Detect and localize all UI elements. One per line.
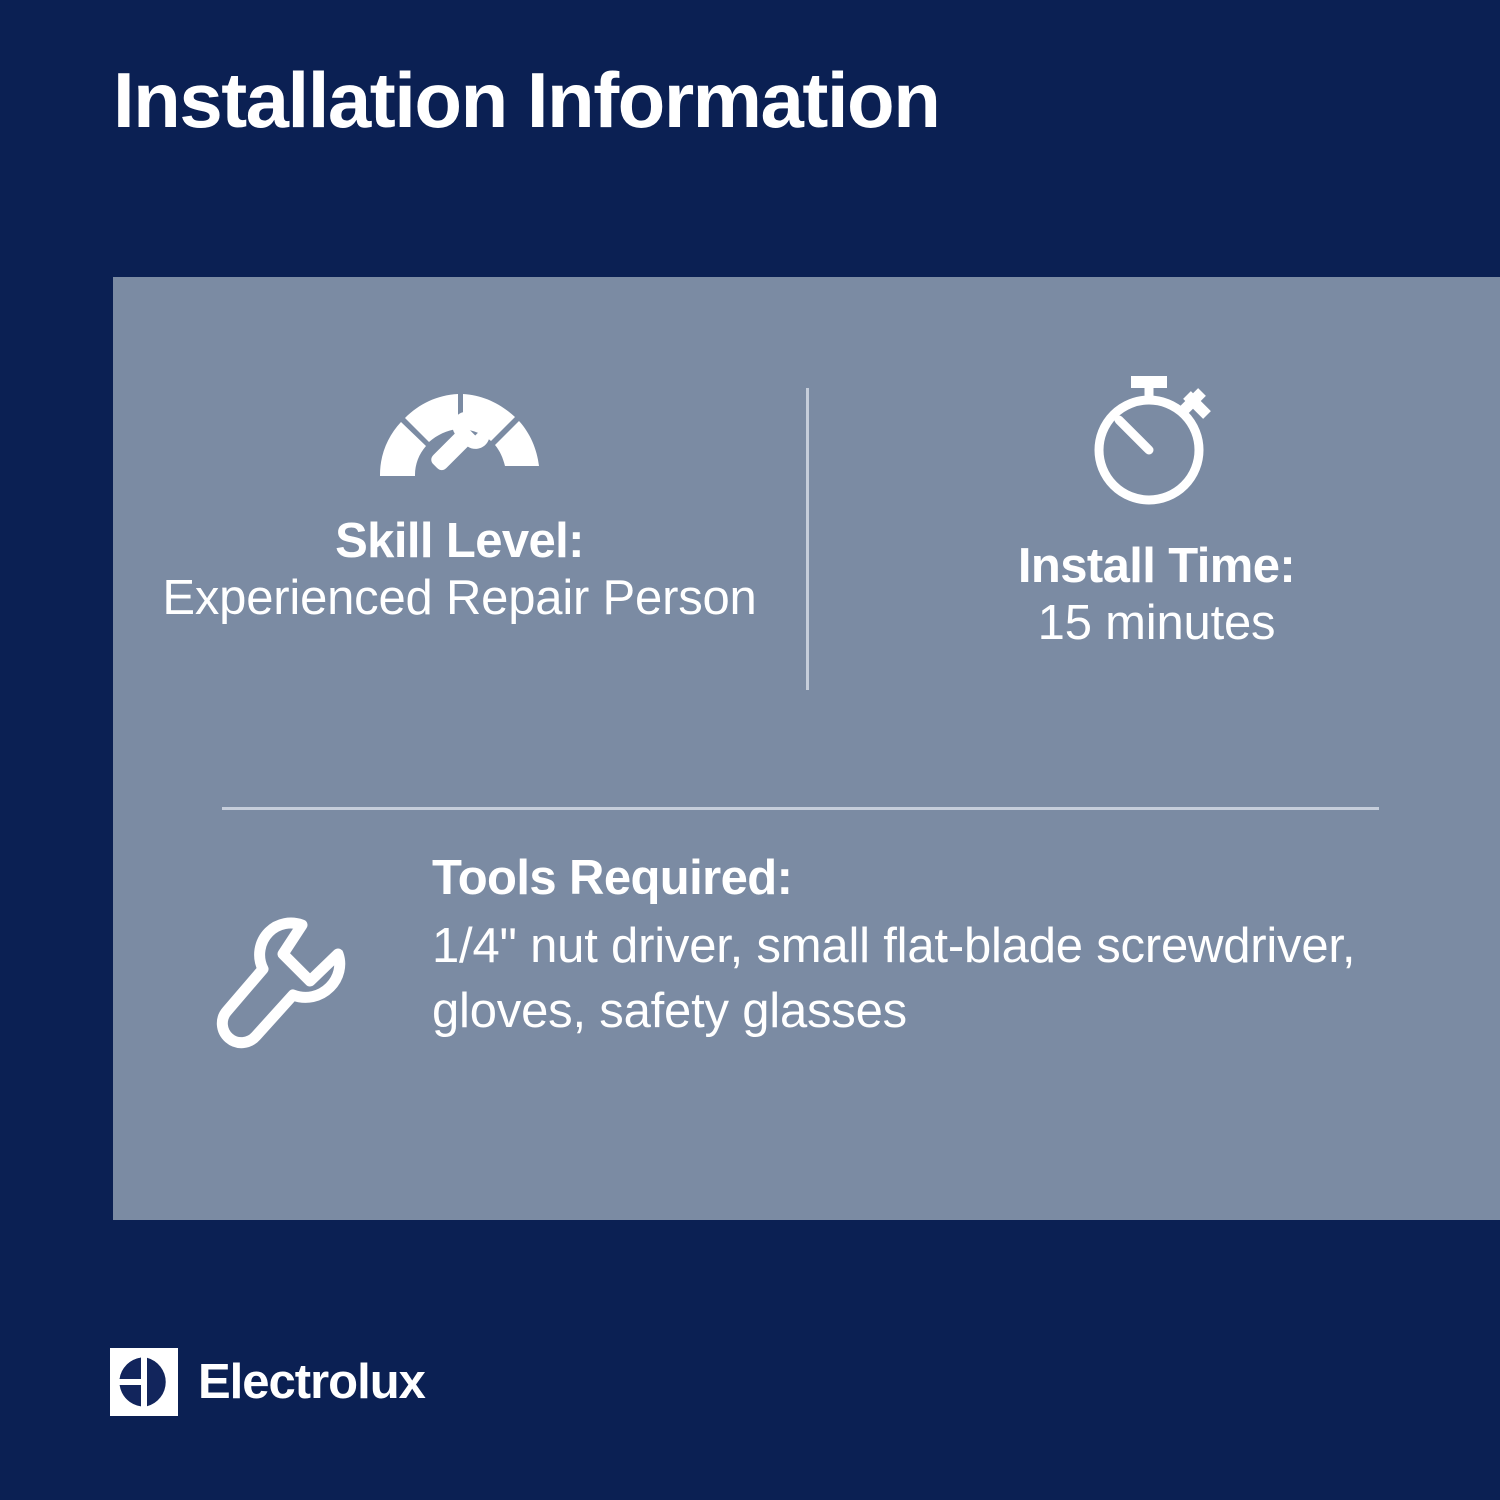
tools-required-value: 1/4" nut driver, small flat-blade screwd… — [432, 914, 1407, 1044]
brand-wordmark: Electrolux — [198, 1358, 425, 1407]
horizontal-divider — [222, 807, 1379, 810]
skill-level-block: Skill Level: Experienced Repair Person — [113, 387, 806, 628]
stopwatch-icon — [813, 362, 1500, 517]
card-top-row: Skill Level: Experienced Repair Person — [113, 277, 1500, 807]
vertical-divider — [806, 388, 809, 690]
electrolux-logo-mark — [110, 1348, 178, 1416]
install-time-block: Install Time: 15 minutes — [813, 362, 1500, 653]
install-time-heading: Install Time: — [813, 539, 1500, 595]
skill-level-heading: Skill Level: — [113, 514, 806, 570]
install-time-value: 15 minutes — [813, 595, 1500, 653]
tools-required-block: Tools Required: 1/4" nut driver, small f… — [113, 852, 1500, 1220]
page-title: Installation Information — [113, 60, 939, 142]
skill-level-value: Experienced Repair Person — [113, 570, 806, 628]
tools-required-text: Tools Required: 1/4" nut driver, small f… — [432, 852, 1432, 1044]
installation-info-card: Skill Level: Experienced Repair Person — [113, 277, 1500, 1220]
gauge-wrench-icon — [113, 387, 806, 482]
wrench-icon — [205, 912, 353, 1065]
brand-logo: Electrolux — [110, 1348, 425, 1416]
tools-required-heading: Tools Required: — [432, 852, 1432, 906]
